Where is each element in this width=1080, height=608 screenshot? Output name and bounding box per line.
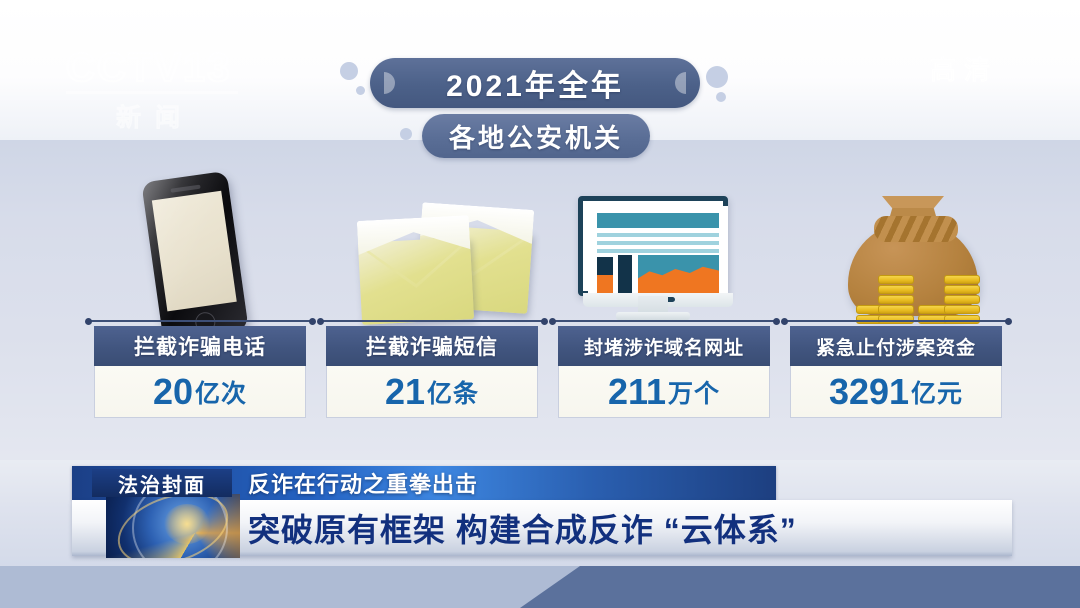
broadcast-screen: CCTV13 新闻 高清 2021年全年 各地公安机关	[0, 0, 1080, 608]
stat-card-blocked-domains: 封堵涉诈域名网址 211 万个	[558, 326, 770, 418]
money-bag-icon	[838, 192, 988, 324]
stat-card-label: 拦截诈骗电话	[94, 326, 306, 366]
lower-third-tag: 法治封面	[92, 469, 232, 497]
monitor-chart-icon	[578, 196, 728, 324]
card-connector-dot-left-1	[85, 318, 92, 325]
card-connector-dot-left-4	[781, 318, 788, 325]
stat-card-unit: 万个	[668, 374, 720, 410]
deco-circle-2	[356, 86, 365, 95]
screen-block-navy-a	[597, 257, 613, 275]
card-connector-dot-left-3	[549, 318, 556, 325]
deco-circle-1	[340, 62, 358, 80]
screen-text-line-2	[597, 241, 719, 245]
money-bag-opening	[882, 196, 944, 208]
card-connector-line-3	[552, 320, 776, 322]
stat-card-label: 拦截诈骗短信	[326, 326, 538, 366]
stat-card-unit: 亿元	[911, 374, 963, 410]
card-connector-line-4	[784, 320, 1008, 322]
stat-card-value: 20	[153, 374, 193, 410]
screen-text-line-3	[597, 249, 719, 253]
deco-circle-4	[716, 92, 726, 102]
stat-card-intercepted-calls: 拦截诈骗电话 20 亿次	[94, 326, 306, 418]
screen-text-line-1	[597, 233, 719, 237]
stat-card-frozen-funds: 紧急止付涉案资金 3291 亿元	[790, 326, 1002, 418]
monitor-screen	[588, 206, 728, 296]
stat-card-value-row: 21 亿条	[326, 366, 538, 418]
stat-card-value: 211	[608, 374, 666, 410]
title-pill-agency-label: 各地公安机关	[449, 118, 623, 155]
screen-block-orange-a	[597, 275, 613, 294]
title-block: 2021年全年 各地公安机关	[0, 58, 1080, 150]
pill-notch-left-icon	[384, 72, 395, 94]
money-bag-tie-rope	[874, 216, 958, 242]
coin-icon	[878, 285, 914, 294]
coin-stack-right	[944, 274, 980, 324]
card-connector-line-2	[320, 320, 544, 322]
stat-card-value: 21	[385, 374, 425, 410]
stat-card-label: 紧急止付涉案资金	[790, 326, 1002, 366]
stat-card-value-row: 20 亿次	[94, 366, 306, 418]
stat-card-value: 3291	[829, 374, 909, 410]
lower-third: 法治封面 反诈在行动之重拳出击 突破原有框架 构建合成反诈 “云体系”	[72, 466, 1012, 566]
stat-card-unit: 亿条	[427, 374, 479, 410]
globe-graphic-icon	[106, 494, 240, 558]
coin-icon	[878, 295, 914, 304]
envelopes-icon	[358, 237, 474, 325]
globe-glow	[164, 504, 210, 544]
screen-header-bar	[597, 213, 719, 228]
coin-icon	[878, 275, 914, 284]
card-connector-dot-left-2	[317, 318, 324, 325]
title-pill-agency: 各地公安机关	[422, 114, 650, 158]
pill-notch-right-icon	[675, 72, 686, 94]
coin-icon	[944, 305, 980, 314]
card-connector-line-1	[88, 320, 312, 322]
coin-icon	[944, 295, 980, 304]
background-bottom-wedge	[520, 566, 1080, 608]
monitor-frame	[578, 196, 728, 296]
deco-circle-5	[400, 128, 412, 140]
title-pill-year: 2021年全年	[370, 58, 700, 108]
title-pill-year-label: 2021年全年	[446, 61, 624, 105]
card-connector-dot-right-2	[541, 318, 548, 325]
lower-third-subtitle: 反诈在行动之重拳出击	[248, 467, 478, 499]
stat-card-intercepted-sms: 拦截诈骗短信 21 亿条	[326, 326, 538, 418]
stat-card-value-row: 3291 亿元	[790, 366, 1002, 418]
card-connector-dot-right-3	[773, 318, 780, 325]
lower-third-headline: 突破原有框架 构建合成反诈 “云体系”	[248, 503, 797, 553]
stat-card-label: 封堵涉诈域名网址	[558, 326, 770, 366]
stat-card-value-row: 211 万个	[558, 366, 770, 418]
card-connector-dot-right-1	[309, 318, 316, 325]
card-connector-dot-right-4	[1005, 318, 1012, 325]
coin-icon	[944, 275, 980, 284]
screen-block-navy-b	[618, 255, 632, 294]
stat-card-unit: 亿次	[195, 374, 247, 410]
coin-icon	[878, 305, 914, 314]
monitor-base	[616, 312, 690, 320]
coin-stack-mid-left	[878, 274, 914, 324]
deco-circle-3	[706, 66, 728, 88]
coin-icon	[944, 285, 980, 294]
